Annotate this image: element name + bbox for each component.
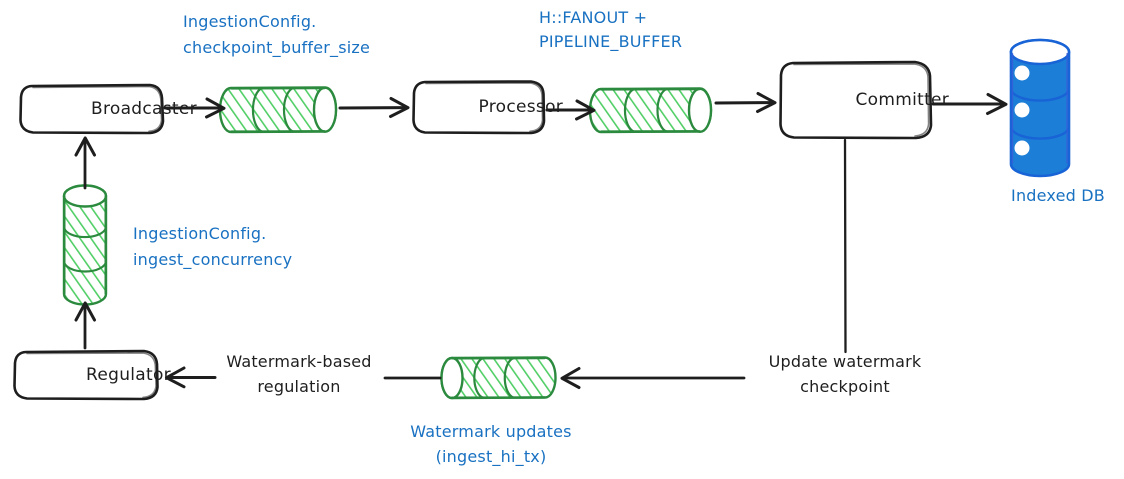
annotation-pipeline-buffer-line2: PIPELINE_BUFFER: [539, 32, 682, 52]
annotation-indexed-db: Indexed DB: [1011, 186, 1105, 206]
arrow-ingest-concurrency-to-broadcaster: [76, 138, 95, 188]
node-label-broadcaster: Broadcaster: [91, 99, 197, 120]
annotation-pipeline-buffer-line1: H::FANOUT +: [539, 8, 647, 28]
diagram-canvas: Broadcaster Processor Committer Regulato…: [0, 0, 1124, 479]
node-label-committer: Committer: [856, 90, 950, 111]
buffer-pipeline-buffer[interactable]: [590, 89, 711, 133]
annotation-checkpoint-buffer-line2: checkpoint_buffer_size: [183, 38, 370, 58]
edge-label-watermark-regulation-line2: regulation: [257, 377, 340, 397]
buffer-checkpoint-buffer-size[interactable]: [220, 88, 336, 133]
annotation-ingest-concurrency-line2: ingest_concurrency: [133, 250, 292, 270]
annotation-checkpoint-buffer-line1: IngestionConfig.: [183, 12, 316, 32]
annotation-watermark-updates-line2: (ingest_hi_tx): [436, 447, 547, 467]
arrow-pipeline-buffer-to-committer: [716, 94, 775, 112]
annotation-ingest-concurrency-line1: IngestionConfig.: [133, 224, 266, 244]
buffer-ingest-concurrency[interactable]: [64, 186, 106, 305]
arrow-committer-to-watermark-buffer: [562, 140, 846, 388]
arrow-regulator-to-ingest-concurrency: [76, 303, 95, 348]
node-label-regulator: Regulator: [86, 365, 171, 386]
node-indexed-db[interactable]: [1011, 40, 1069, 176]
annotation-watermark-updates-line1: Watermark updates: [410, 422, 571, 442]
node-label-processor: Processor: [479, 97, 564, 118]
edge-label-update-watermark-line2: checkpoint: [800, 377, 890, 397]
edge-label-watermark-regulation-line1: Watermark-based: [226, 352, 371, 372]
arrow-checkpoint-buffer-to-processor: [340, 99, 408, 117]
buffer-watermark-updates[interactable]: [442, 358, 556, 399]
edge-label-update-watermark-line1: Update watermark: [769, 352, 922, 372]
